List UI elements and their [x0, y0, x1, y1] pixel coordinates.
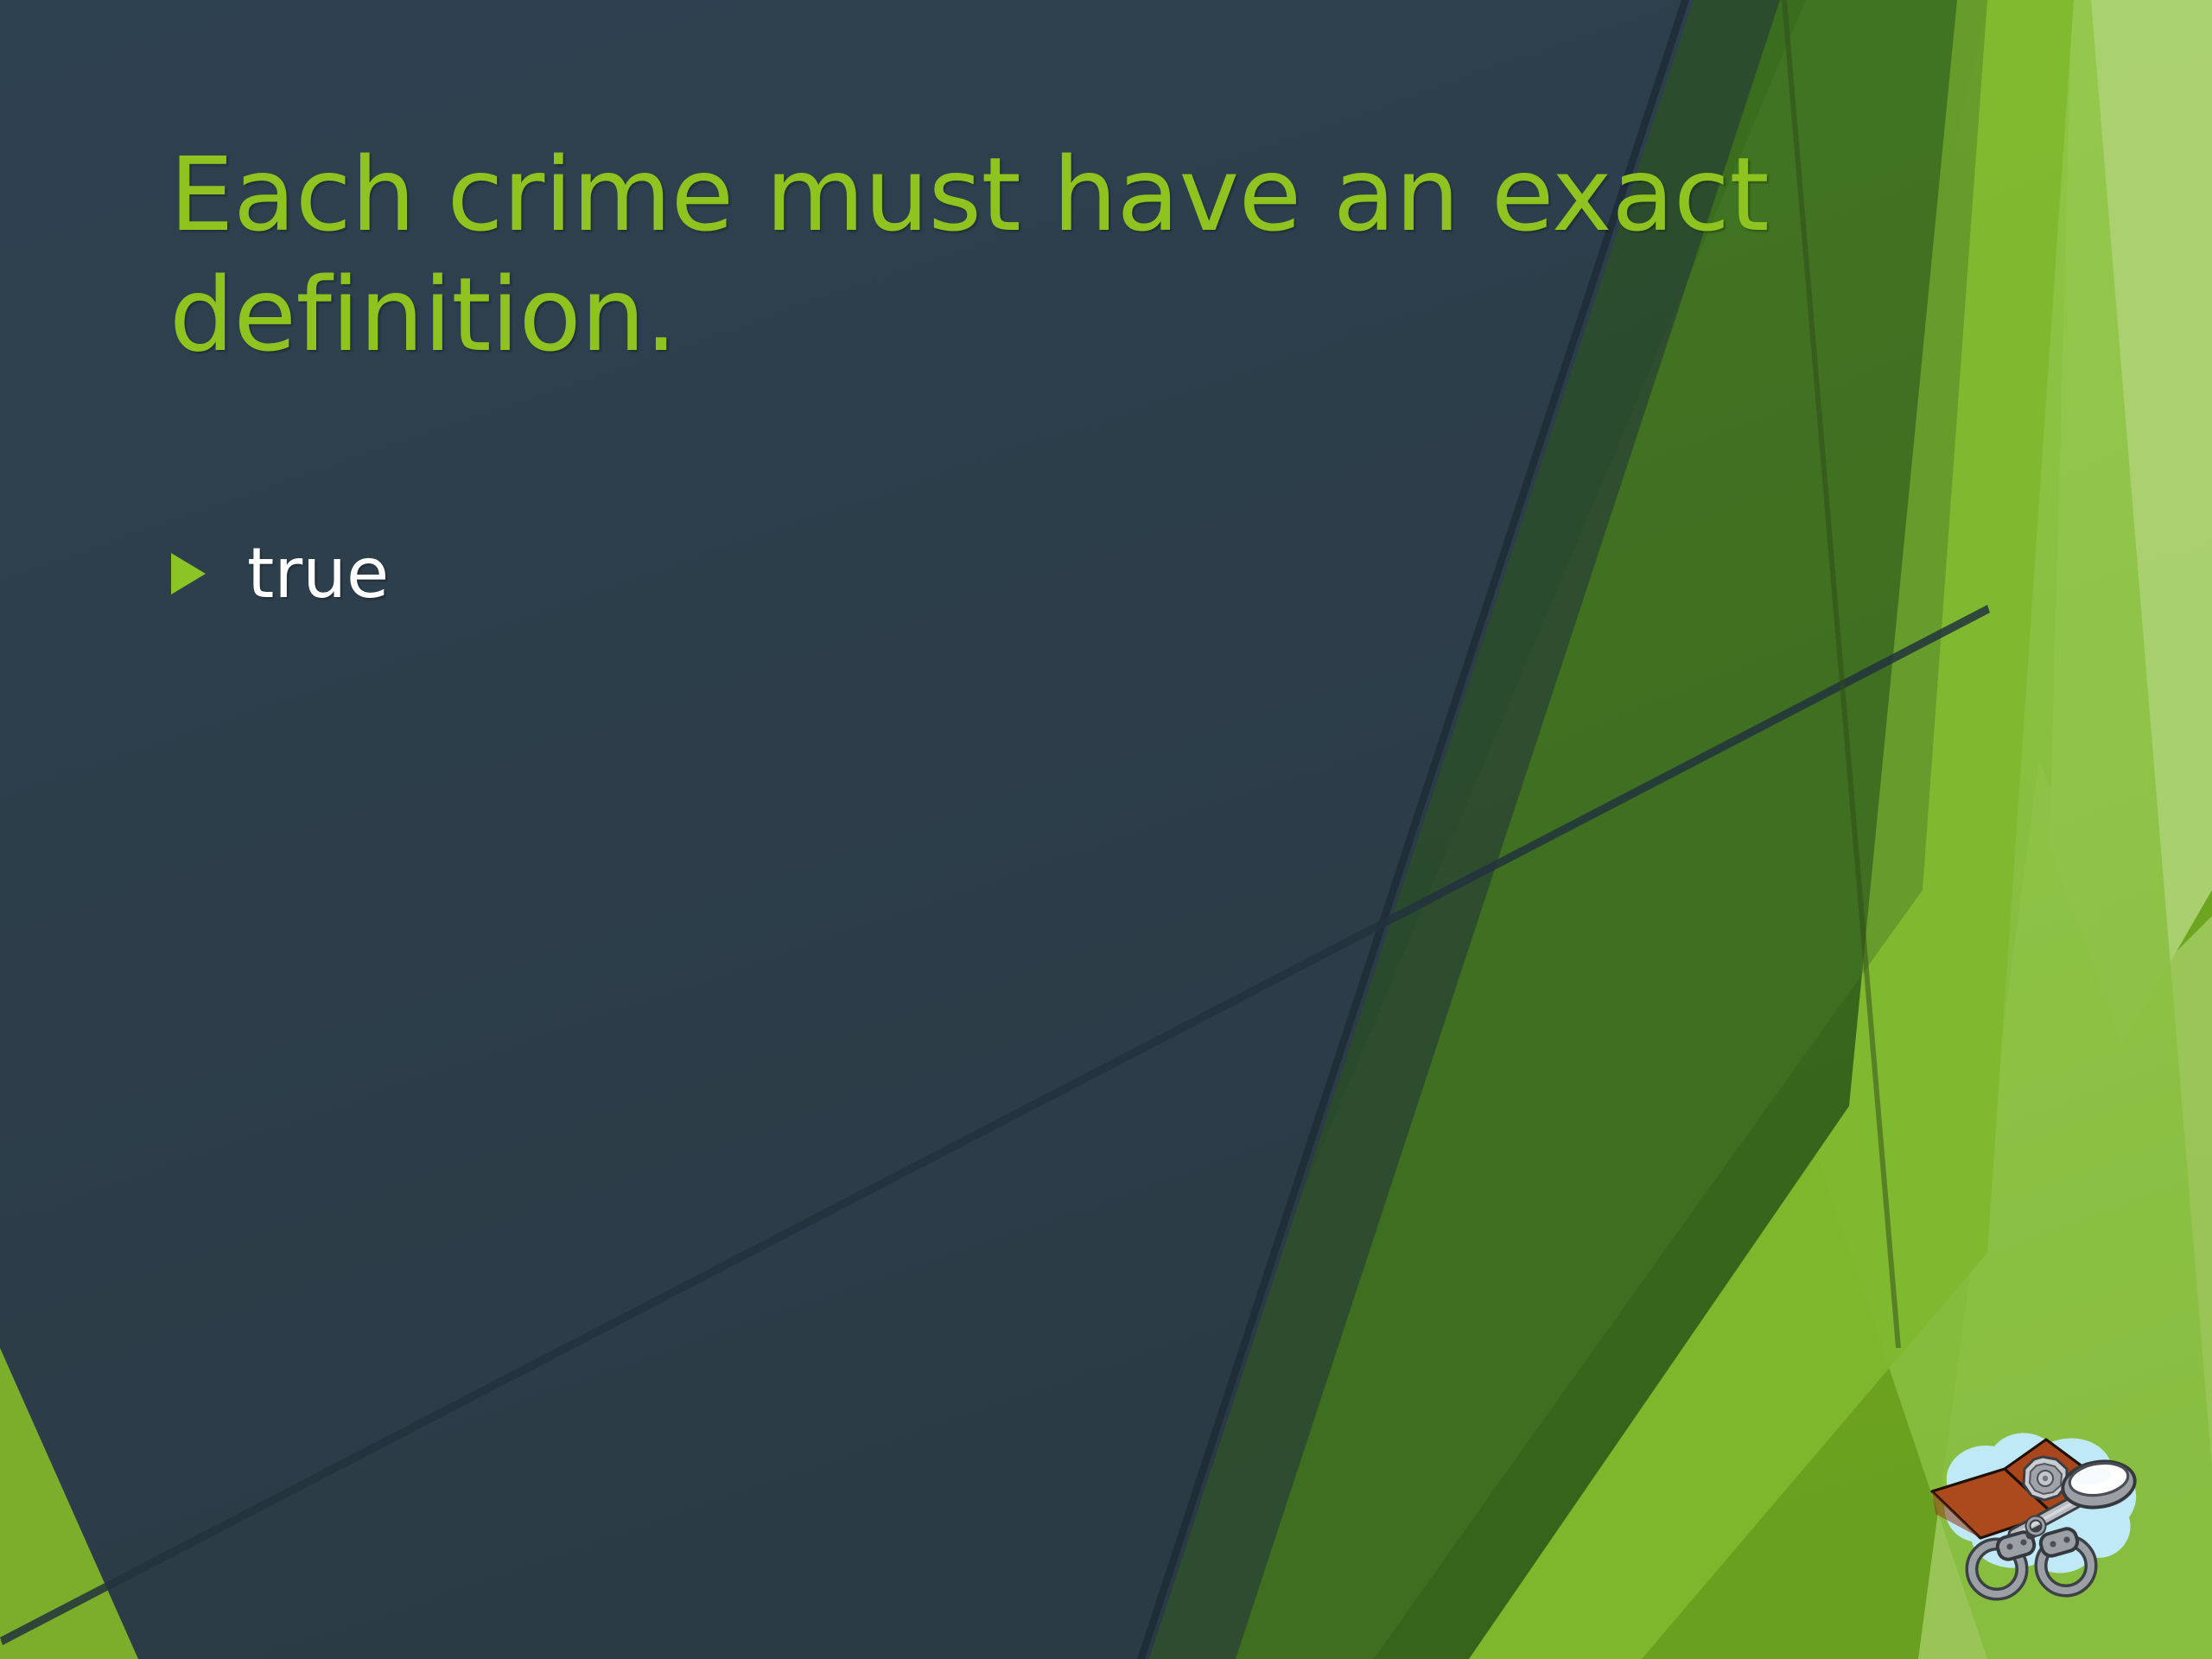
- police-badge-icon: [2024, 1457, 2067, 1500]
- presentation-slide: Each crime must have an exact definition…: [0, 0, 2212, 1659]
- title-placeholder: Each crime must have an exact definition…: [169, 135, 1794, 375]
- police-badge-magnifier-handcuffs-clipart: [1915, 1408, 2165, 1607]
- triangle-bullet-icon: [169, 551, 207, 596]
- slide-title: Each crime must have an exact definition…: [169, 135, 1794, 375]
- bullet-list-item: true: [169, 536, 1638, 612]
- slide-content: Each crime must have an exact definition…: [0, 0, 2212, 1659]
- body-placeholder: true: [169, 536, 1638, 638]
- bullet-item-label: true: [247, 536, 389, 612]
